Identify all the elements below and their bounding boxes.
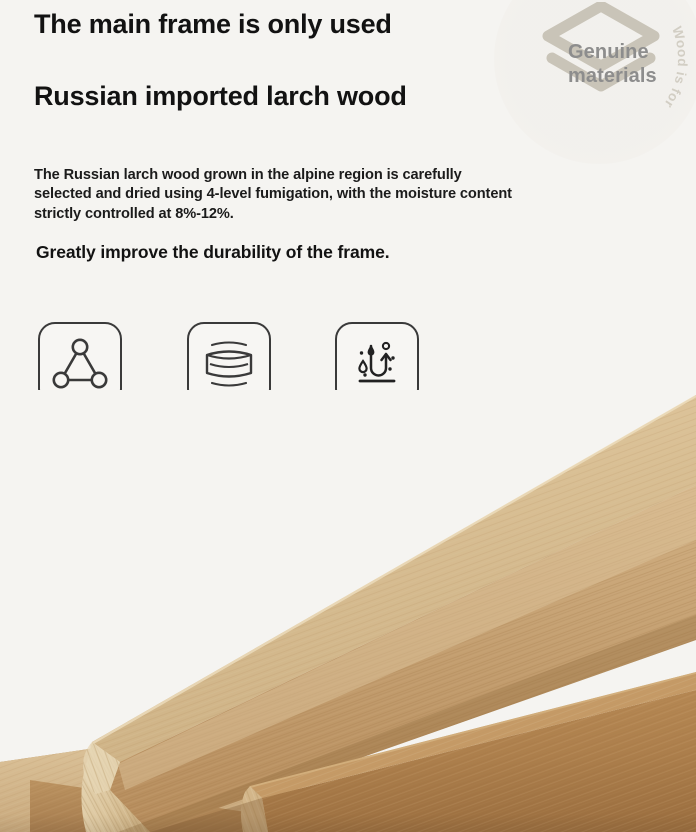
barrel-log-icon (199, 337, 259, 391)
water-repellent-icon (348, 336, 406, 392)
triangle-nodes-icon (51, 336, 109, 392)
tagline: Greatly improve the durability of the fr… (36, 242, 389, 263)
description-paragraph: The Russian larch wood grown in the alpi… (34, 166, 514, 224)
larch-wood-photo (0, 390, 696, 832)
heading-line-1: The main frame is only used (34, 9, 392, 40)
product-detail-page: Wood is for Genuine materials The main f… (0, 0, 696, 832)
genuine-materials-line2: materials (568, 64, 696, 88)
heading-line-2: Russian imported larch wood (34, 81, 407, 112)
genuine-materials-label: Genuine materials (568, 40, 696, 89)
genuine-materials-line1: Genuine (568, 40, 696, 64)
